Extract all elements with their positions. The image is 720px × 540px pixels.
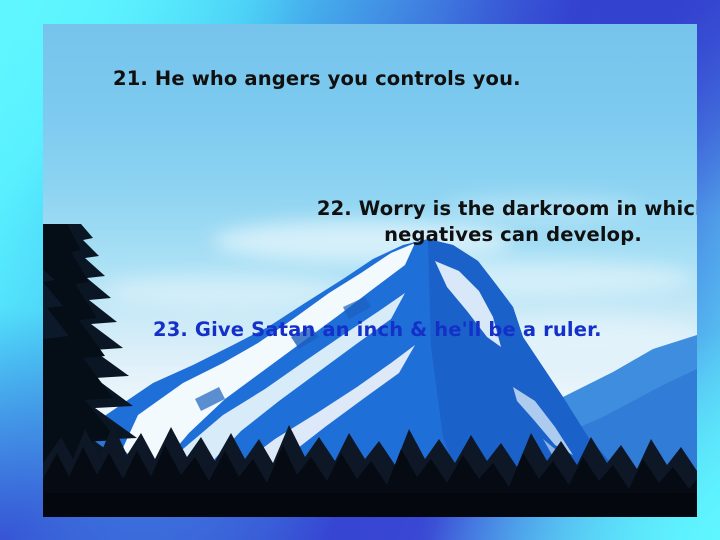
presentation-slide: 21. He who angers you controls you. 22. …: [0, 0, 720, 540]
quote-22-text: 22. Worry is the darkroom in which negat…: [303, 196, 697, 249]
quote-23-text: 23. Give Satan an inch & he'll be a rule…: [153, 318, 602, 341]
snowy-mountain-photo: 21. He who angers you controls you. 22. …: [43, 24, 697, 517]
quote-21-text: 21. He who angers you controls you.: [113, 67, 521, 90]
conifer-treeline: [43, 367, 697, 517]
